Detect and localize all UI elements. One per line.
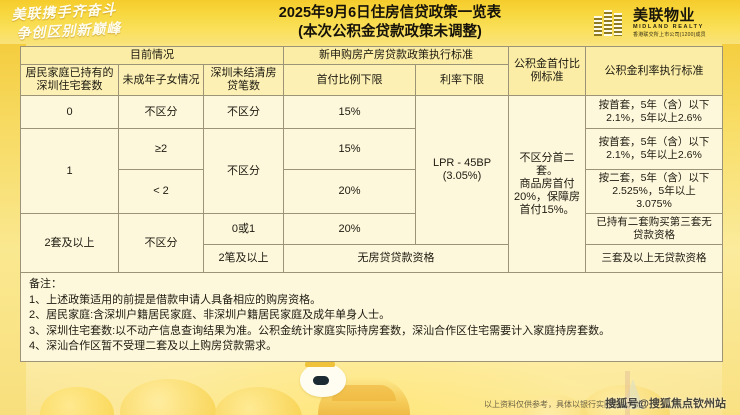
cell-unsettled-4: 2笔及以上: [204, 245, 284, 273]
table-row: < 2 20% 按二套，5年（含）以下 2.525%，5年以上 3.075%: [21, 170, 723, 214]
cell-fund-rate-4: 三套及以上无贷款资格: [586, 245, 723, 273]
header-unsettled-loans: 深圳未结清房 贷笔数: [204, 65, 284, 96]
logo-name-cn: 美联物业: [633, 8, 706, 23]
table-row: 0 不区分 不区分 15% LPR - 45BP (3.05%) 不区分首二套。…: [21, 96, 723, 129]
cell-owned-0: 0: [21, 96, 119, 129]
cell-fund-rate-3: 已持有二套购买第三套无 贷款资格: [586, 214, 723, 245]
cell-minor-2: < 2: [119, 170, 204, 214]
header-minor-children: 未成年子女情况: [119, 65, 204, 96]
cell-fund-rate-0: 按首套，5年（含）以下 2.1%，5年以上2.6%: [586, 96, 723, 129]
cell-owned-3: 2套及以上: [21, 214, 119, 273]
header-rate-min: 利率下限: [416, 65, 509, 96]
cell-minor-1: ≥2: [119, 129, 204, 170]
cell-no-loan-eligibility: 无房贷贷款资格: [284, 245, 509, 273]
header-fund-rate: 公积金利率执行标准: [586, 47, 723, 96]
logo-name-en: MIDLAND REALTY: [633, 25, 706, 31]
table-row: 2套及以上 不区分 0或1 20% 已持有二套购买第三套无 贷款资格: [21, 214, 723, 245]
cell-fund-rate-2: 按二套，5年（含）以下 2.525%，5年以上 3.075%: [586, 170, 723, 214]
cell-unsettled-0: 不区分: [204, 96, 284, 129]
watermark: 搜狐号@搜狐焦点钦州站: [605, 395, 726, 411]
note-item-2: 2、居民家庭:含深圳户籍居民家庭、非深圳户籍居民家庭及成年单身人士。: [29, 308, 716, 324]
notes-row: 备注： 1、上述政策适用的前提是借款申请人具备相应的购房资格。 2、居民家庭:含…: [21, 273, 723, 362]
note-item-1: 1、上述政策适用的前提是借款申请人具备相应的购房资格。: [29, 293, 716, 309]
midland-logo-icon: [594, 10, 628, 36]
notes-title: 备注：: [29, 277, 716, 293]
cell-minor-0: 不区分: [119, 96, 204, 129]
table-header-group-row: 目前情况 新申购房产房贷款政策执行标准 公积金首付比例标准 公积金利率执行标准: [21, 47, 723, 65]
notes-block: 备注： 1、上述政策适用的前提是借款申请人具备相应的购房资格。 2、居民家庭:含…: [21, 273, 723, 362]
cell-unsettled-1: 不区分: [204, 129, 284, 214]
table-row: 1 ≥2 不区分 15% 按首套，5年（含）以下 2.1%，5年以上2.6%: [21, 129, 723, 170]
title-line-2: (本次公积金贷款政策未调整): [190, 23, 590, 42]
housing-loan-policy-table: 目前情况 新申购房产房贷款政策执行标准 公积金首付比例标准 公积金利率执行标准 …: [20, 46, 723, 362]
logo-subtitle: 香港联交所上市公司(1200)成员: [633, 33, 706, 38]
page-title: 2025年9月6日住房信贷政策一览表 (本次公积金贷款政策未调整): [190, 4, 590, 42]
header-owned-units: 居民家庭已持有的 深圳住宅套数: [21, 65, 119, 96]
cell-rate-min-merged: LPR - 45BP (3.05%): [416, 96, 509, 245]
right-edge-band: [722, 0, 740, 415]
cell-fund-downpayment-merged: 不区分首二套。 商品房首付 20%，保障房 首付15%。: [509, 96, 586, 273]
header-fund-downpayment: 公积金首付比例标准: [509, 47, 586, 96]
cell-minor-3: 不区分: [119, 214, 204, 273]
cell-downpay-0: 15%: [284, 96, 416, 129]
policy-table-container: 目前情况 新申购房产房贷款政策执行标准 公积金首付比例标准 公积金利率执行标准 …: [20, 46, 722, 362]
cell-downpay-3: 20%: [284, 214, 416, 245]
header-current-situation: 目前情况: [21, 47, 284, 65]
title-line-1: 2025年9月6日住房信贷政策一览表: [190, 4, 590, 23]
cell-downpay-2: 20%: [284, 170, 416, 214]
cell-owned-1: 1: [21, 129, 119, 214]
cell-fund-rate-1: 按首套，5年（含）以下 2.1%，5年以上2.6%: [586, 129, 723, 170]
header-new-loan-standard: 新申购房产房贷款政策执行标准: [284, 47, 509, 65]
note-item-3: 3、深圳住宅套数:以不动产信息查询结果为准。公积金统计家庭实际持房套数，深汕合作…: [29, 324, 716, 340]
note-item-4: 4、深汕合作区暂不受理二套及以上购房贷款需求。: [29, 339, 716, 355]
brand-logo: 美联物业 MIDLAND REALTY 香港联交所上市公司(1200)成员: [594, 4, 730, 42]
cell-downpay-1: 15%: [284, 129, 416, 170]
cell-unsettled-3: 0或1: [204, 214, 284, 245]
header-downpayment-min: 首付比例下限: [284, 65, 416, 96]
